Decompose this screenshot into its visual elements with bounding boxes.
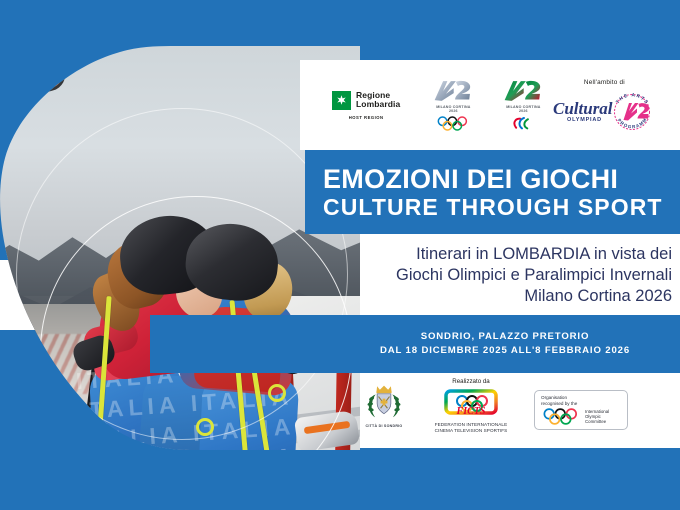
ioc-line-1: Organisation	[541, 395, 567, 400]
paralympic-subtitle-1: MILANO CORTINA	[506, 105, 540, 109]
poster-canvas: ITALIA ITALIA ITALIA ITALIA ITALIA ITALI…	[0, 0, 680, 510]
ioc-lockup: International Olympic Committee	[541, 408, 621, 425]
ficts-caption-line-2: CINEMA TELEVISION SPORTIFS	[435, 428, 508, 433]
regione-line-1: Regione	[356, 90, 390, 100]
produced-by-label: Realizzato da	[452, 378, 490, 385]
logo-ficts: Realizzato da FICTS	[422, 378, 520, 434]
logo-citta-di-sondrio: CITTÀ DI SONDRIO	[360, 378, 408, 428]
subtitle-line-2: Giochi Olimpici e Paralimpici Invernali	[396, 265, 672, 286]
ioc-line-2: recognised by the	[541, 401, 577, 406]
ficts-wordmark: FICTS	[456, 406, 486, 417]
svg-text:OLYMPIAD: OLYMPIAD	[567, 117, 602, 123]
milano-cortina-26-paralympic-icon	[500, 79, 546, 103]
event-dates: DAL 18 DICEMBRE 2025 ALL'8 FEBBRAIO 2026	[380, 344, 630, 358]
cultural-olympiad-icon: Cultural OLYMPIAD THE ARTS PROGRAMME	[552, 92, 656, 132]
svg-text:Cultural: Cultural	[553, 99, 613, 118]
logo-milano-cortina-paralympic: MILANO CORTINA 2026	[494, 79, 552, 132]
ioc-recognition-text: Organisation recognised by the	[541, 395, 621, 406]
olympic-subtitle-2: 2026	[449, 109, 458, 113]
regione-host-tagline: HOST REGION	[349, 115, 384, 120]
ski-pole-basket-2	[268, 384, 286, 402]
subtitle-line-3: Milano Cortina 2026	[524, 286, 672, 307]
paralympic-subtitle-2: 2026	[519, 109, 528, 113]
subtitle-block: Itinerari in LOMBARDIA in vista dei Gioc…	[330, 238, 680, 312]
paralympic-agitos-icon	[506, 116, 540, 131]
logo-cultural-olympiad: Nell'ambito di Cultural OLYMPIAD THE ART…	[552, 79, 656, 132]
ioc-org-line-3: Committee	[585, 419, 606, 424]
event-info-band: SONDRIO, PALAZZO PRETORIO DAL 18 DICEMBR…	[150, 315, 680, 373]
olympic-subtitle-1: MILANO CORTINA	[436, 105, 470, 109]
lombardy-rose-icon	[332, 91, 351, 110]
olympic-rings-icon	[433, 116, 473, 131]
ioc-org-name: International Olympic Committee	[585, 409, 609, 425]
event-venue: SONDRIO, PALAZZO PRETORIO	[380, 330, 630, 344]
ficts-caption: FEDERATION INTERNATIONALE CINEMA TELEVIS…	[435, 422, 508, 434]
subtitle-line-1: Itinerari in LOMBARDIA in vista dei	[416, 244, 672, 265]
title-line-1: EMOZIONI DEI GIOCHI	[323, 164, 680, 194]
event-info-inner: SONDRIO, PALAZZO PRETORIO DAL 18 DICEMBR…	[200, 330, 630, 358]
logo-milano-cortina-olympic: MILANO CORTINA 2026	[424, 79, 482, 132]
ioc-org-line-2: Olympic	[585, 414, 601, 419]
ioc-recognition-box: Organisation recognised by the Internati…	[534, 390, 628, 430]
olympic-emblem-subtitle: MILANO CORTINA 2026	[436, 105, 470, 114]
ioc-org-line-1: International	[585, 409, 609, 414]
title-band: EMOZIONI DEI GIOCHI CULTURE THROUGH SPOR…	[305, 150, 680, 234]
paralympic-emblem-subtitle: MILANO CORTINA 2026	[506, 105, 540, 114]
games-emblems: MILANO CORTINA 2026	[424, 79, 552, 132]
olympic-rings-icon	[541, 408, 581, 425]
ficts-rings-icon: FICTS	[443, 388, 499, 420]
sponsor-logo-panel: Regione Lombardia HOST REGION	[300, 60, 680, 150]
citta-di-sondrio-caption: CITTÀ DI SONDRIO	[366, 424, 403, 428]
regione-lombardia-lockup: Regione Lombardia	[332, 91, 400, 110]
bottom-blue-band	[0, 448, 680, 510]
regione-line-2: Lombardia	[356, 99, 400, 109]
sponsor-logo-row: Regione Lombardia HOST REGION	[300, 60, 680, 150]
sondrio-coat-of-arms-icon	[362, 378, 406, 422]
credits-row: CITTÀ DI SONDRIO Realizzato da	[360, 378, 680, 444]
cultural-olympiad-intro: Nell'ambito di	[584, 79, 625, 86]
regione-lombardia-name: Regione Lombardia	[356, 91, 400, 110]
milano-cortina-26-olympic-icon	[430, 79, 476, 103]
logo-regione-lombardia: Regione Lombardia HOST REGION	[332, 91, 400, 120]
cultural-olympiad-lockup: Cultural OLYMPIAD THE ARTS PROGRAMME	[552, 92, 656, 132]
ficts-caption-line-1: FEDERATION INTERNATIONALE	[435, 422, 508, 427]
title-line-2: CULTURE THROUGH SPORT	[323, 194, 680, 221]
ski-pole-basket-1	[196, 418, 214, 436]
